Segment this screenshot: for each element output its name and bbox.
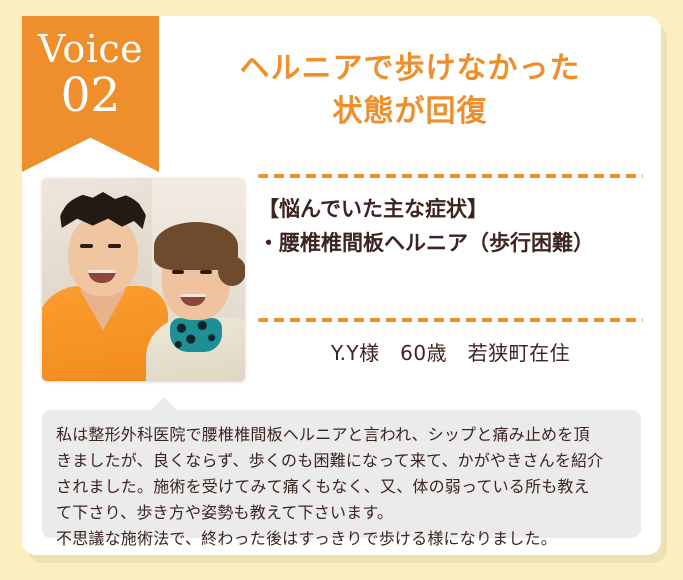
testimonial-line-3: されました。施術を受けてみて痛くもなく、又、体の弱っている所も教え [56,474,627,500]
ribbon-number: 02 [22,68,159,119]
title-line-1: ヘルニアで歩けなかった [159,48,661,91]
ribbon-label: Voice [22,16,159,68]
practitioner-eye-right [108,244,121,248]
testimonial-card: Voice 02 ヘルニアで歩けなかった 状態が回復 【悩んでいた主な症状】 ・… [22,16,661,555]
title-line-2: 状態が回復 [159,91,661,134]
bubble-pointer-icon [150,397,178,411]
page-title: ヘルニアで歩けなかった 状態が回復 [159,48,661,133]
testimonial-line-1: 私は整形外科医院で腰椎椎間板ヘルニアと言われ、シップと痛み止めを頂 [56,422,627,448]
patient-scarf [170,318,222,352]
patient-eye-right [200,270,212,274]
dashed-divider-bottom [258,318,643,322]
patient-hair-bun [218,256,245,286]
practitioner-face [68,214,138,296]
testimonial-line-2: きましたが、良くならず、歩くのも困難になって来て、かがやきさんを紹介 [56,448,627,474]
symptom-heading: 【悩んでいた主な症状】 [258,192,643,226]
testimonial-bubble: 私は整形外科医院で腰椎椎間板ヘルニアと言われ、シップと痛み止めを頂 きましたが、… [42,410,641,538]
symptom-item-1: ・腰椎椎間板ヘルニア（歩行困難） [258,226,643,260]
testimonial-line-4: て下さり、歩き方や姿勢も教えて下さいます。 [56,500,627,526]
practitioner-eye-left [80,244,93,248]
patient-eye-left [172,270,184,274]
dashed-divider-bottom-wrap [258,318,643,322]
patient-photo [42,178,245,381]
symptom-info-column: 【悩んでいた主な症状】 ・腰椎椎間板ヘルニア（歩行困難） Y.Y様 60歳 若狭… [258,174,643,366]
voice-ribbon-banner: Voice 02 [22,16,159,172]
testimonial-line-5: 不思議な施術法で、終わった後はすっきりで歩ける様になりました。 [56,526,627,552]
testimonial-text: 私は整形外科医院で腰椎椎間板ヘルニアと言われ、シップと痛み止めを頂 きましたが、… [56,422,627,552]
patient-identity: Y.Y様 60歳 若狭町在住 [258,337,643,366]
symptom-list: 【悩んでいた主な症状】 ・腰椎椎間板ヘルニア（歩行困難） [258,178,643,260]
